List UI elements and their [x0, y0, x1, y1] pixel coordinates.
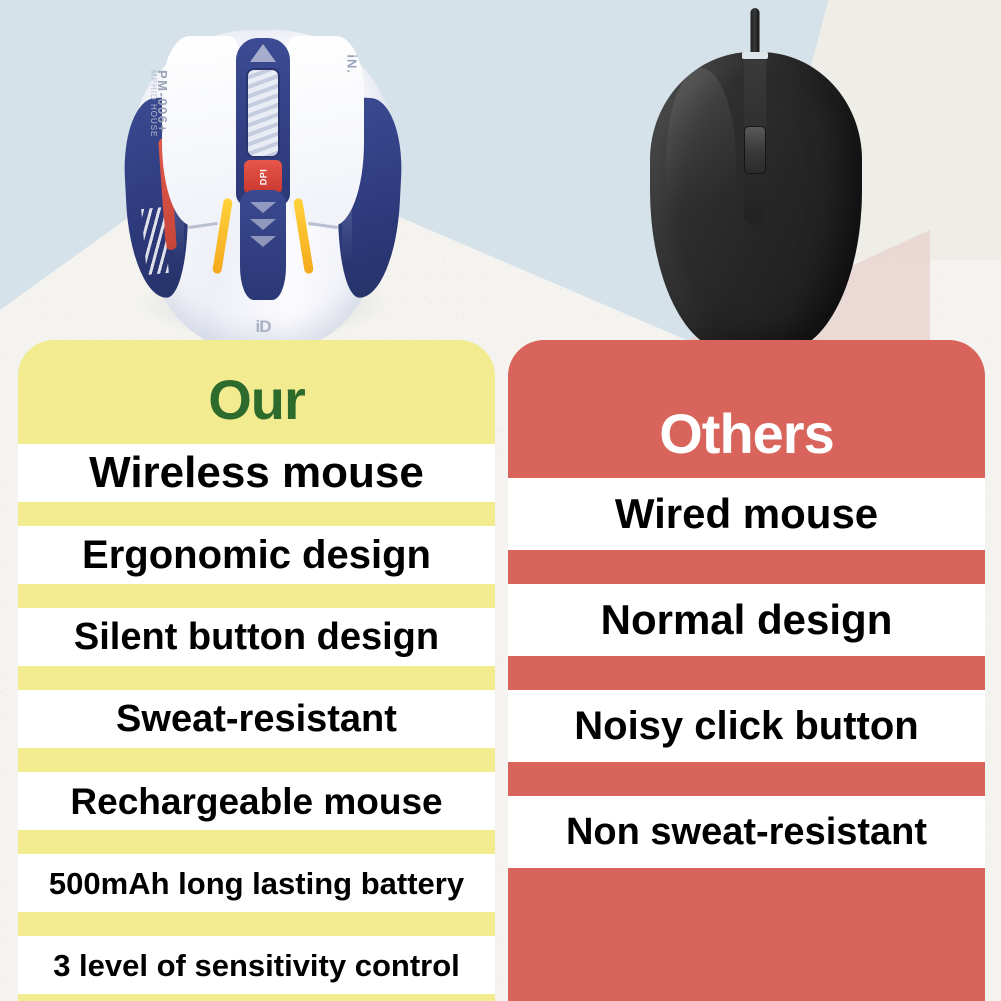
office-mouse-image	[640, 8, 870, 358]
our-row-separator	[18, 584, 495, 608]
others-row-separator	[508, 550, 985, 584]
office-mouse-cable	[751, 8, 760, 58]
gaming-mouse-chevron-icon	[250, 236, 276, 247]
others-row-separator	[508, 762, 985, 796]
our-comparison-panel: Our Wireless mouse Ergonomic design Sile…	[18, 340, 495, 1001]
gaming-mouse-scroll-wheel	[246, 68, 280, 158]
gaming-mouse-dpi-button: DPI	[244, 160, 282, 194]
others-feature-row: Noisy click button	[508, 690, 985, 762]
comparison-infographic: DPI PM-006+ MPHID HOUSE iN. iD Our Wirel…	[0, 0, 1001, 1001]
our-row-separator	[18, 502, 495, 526]
gaming-mouse-chevron-icon	[250, 202, 276, 213]
gaming-mouse-dpi-label: DPI	[258, 169, 268, 186]
our-panel-title: Our	[18, 340, 495, 444]
our-feature-row: Wireless mouse	[18, 444, 495, 502]
others-feature-row: Normal design	[508, 584, 985, 656]
gaming-mouse-triangle-icon	[250, 44, 276, 62]
gaming-mouse-brand-label: MPHID HOUSE	[149, 70, 158, 137]
our-row-separator	[18, 748, 495, 772]
gaming-mouse-logo: iD	[256, 317, 271, 337]
our-row-separator	[18, 666, 495, 690]
our-feature-row: Sweat-resistant	[18, 690, 495, 748]
office-mouse-top-gap	[742, 52, 768, 59]
our-row-separator	[18, 912, 495, 936]
others-row-separator	[508, 656, 985, 690]
others-feature-row: Non sweat-resistant	[508, 796, 985, 868]
office-mouse-scroll-wheel	[744, 126, 766, 174]
our-row-separator	[18, 830, 495, 854]
gaming-mouse-side-label: iN.	[345, 54, 360, 74]
gaming-mouse-chevron-icon	[250, 219, 276, 230]
office-mouse-highlight	[666, 68, 736, 258]
others-comparison-panel: Others Wired mouse Normal design Noisy c…	[508, 340, 985, 1001]
gaming-mouse-image: DPI PM-006+ MPHID HOUSE iN. iD	[118, 12, 408, 357]
others-feature-row: Wired mouse	[508, 478, 985, 550]
our-feature-row: Ergonomic design	[18, 526, 495, 584]
our-feature-row: 500mAh long lasting battery	[18, 854, 495, 912]
our-feature-row: Rechargeable mouse	[18, 772, 495, 830]
our-feature-row: Silent button design	[18, 608, 495, 666]
others-panel-title: Others	[508, 340, 985, 478]
our-feature-row: 3 level of sensitivity control	[18, 936, 495, 994]
